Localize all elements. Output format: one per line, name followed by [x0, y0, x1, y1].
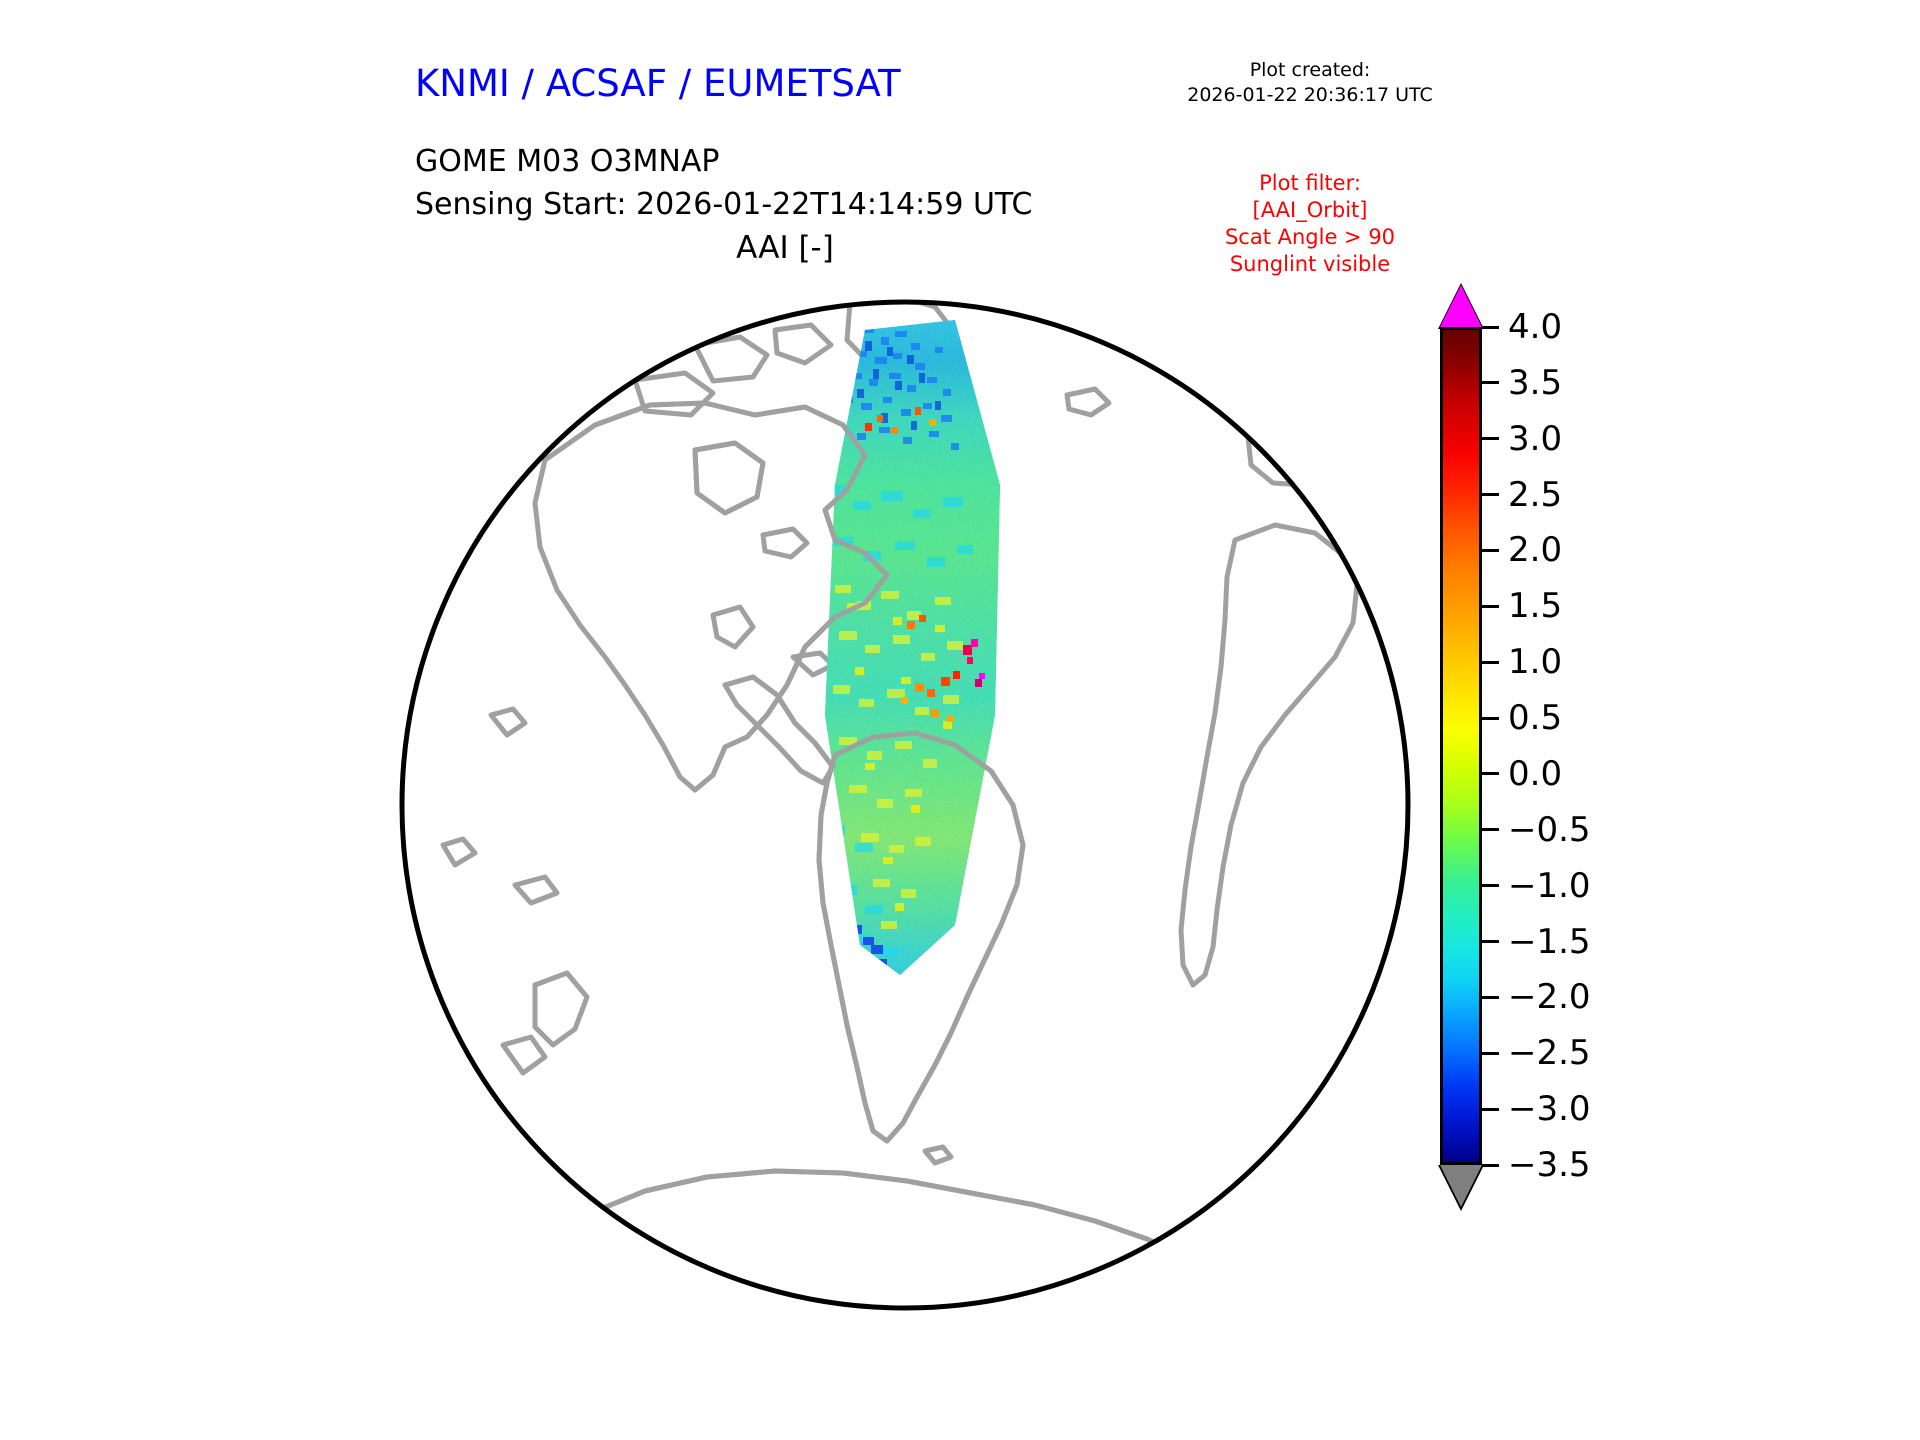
colorbar-under-arrow — [1440, 1165, 1482, 1207]
colorbar-tick-label: 0.0 — [1508, 754, 1562, 794]
plot-filter-line: Plot filter: — [1165, 170, 1455, 197]
colorbar-tick-label: 3.0 — [1508, 419, 1562, 459]
colorbar-tick-label: −1.5 — [1508, 922, 1591, 962]
colorbar-tick — [1482, 1164, 1499, 1167]
colorbar-tick — [1482, 828, 1499, 831]
page-title: AAI [-] — [415, 230, 1155, 266]
organization-title: KNMI / ACSAF / EUMETSAT — [415, 62, 901, 105]
colorbar-tick — [1482, 661, 1499, 664]
colorbar-tick — [1482, 1108, 1499, 1111]
colorbar-tick-label: 4.0 — [1508, 307, 1562, 347]
sensing-start: Sensing Start: 2026-01-22T14:14:59 UTC — [415, 183, 1032, 226]
colorbar-tick-label: 0.5 — [1508, 698, 1562, 738]
colorbar: 4.03.53.02.52.01.51.00.50.0−0.5−1.0−1.5−… — [1440, 285, 1500, 1295]
colorbar-tick — [1482, 717, 1499, 720]
colorbar-tick-label: 2.0 — [1508, 530, 1562, 570]
colorbar-tick — [1482, 326, 1499, 329]
dataset-name: GOME M03 O3MNAP — [415, 140, 1032, 183]
colorbar-tick — [1482, 884, 1499, 887]
colorbar-tick — [1482, 381, 1499, 384]
globe-map — [395, 285, 1415, 1325]
colorbar-tick — [1482, 1052, 1499, 1055]
colorbar-tick-label: −1.0 — [1508, 866, 1591, 906]
colorbar-tick-label: −3.5 — [1508, 1145, 1591, 1185]
colorbar-tick — [1482, 605, 1499, 608]
plot-filter-line: [AAI_Orbit] — [1165, 197, 1455, 224]
colorbar-tick-label: 1.0 — [1508, 642, 1562, 682]
colorbar-tick-label: 2.5 — [1508, 475, 1562, 515]
colorbar-tick — [1482, 996, 1499, 999]
colorbar-gradient — [1440, 327, 1482, 1165]
colorbar-tick — [1482, 772, 1499, 775]
colorbar-tick-label: −3.0 — [1508, 1089, 1591, 1129]
plot-filter-block: Plot filter: [AAI_Orbit] Scat Angle > 90… — [1165, 170, 1455, 278]
dataset-block: GOME M03 O3MNAP Sensing Start: 2026-01-2… — [415, 140, 1032, 226]
colorbar-tick-label: −2.0 — [1508, 977, 1591, 1017]
colorbar-tick-label: 3.5 — [1508, 363, 1562, 403]
plot-created-label: Plot created: — [1165, 58, 1455, 83]
colorbar-over-arrow — [1440, 285, 1482, 327]
plot-filter-line: Sunglint visible — [1165, 251, 1455, 278]
colorbar-tick — [1482, 549, 1499, 552]
plot-created-block: Plot created: 2026-01-22 20:36:17 UTC — [1165, 58, 1455, 108]
colorbar-tick-label: −2.5 — [1508, 1033, 1591, 1073]
plot-filter-line: Scat Angle > 90 — [1165, 224, 1455, 251]
colorbar-tick — [1482, 493, 1499, 496]
colorbar-tick-label: 1.5 — [1508, 586, 1562, 626]
colorbar-tick — [1482, 940, 1499, 943]
colorbar-tick — [1482, 437, 1499, 440]
colorbar-tick-label: −0.5 — [1508, 810, 1591, 850]
plot-created-timestamp: 2026-01-22 20:36:17 UTC — [1165, 83, 1455, 108]
